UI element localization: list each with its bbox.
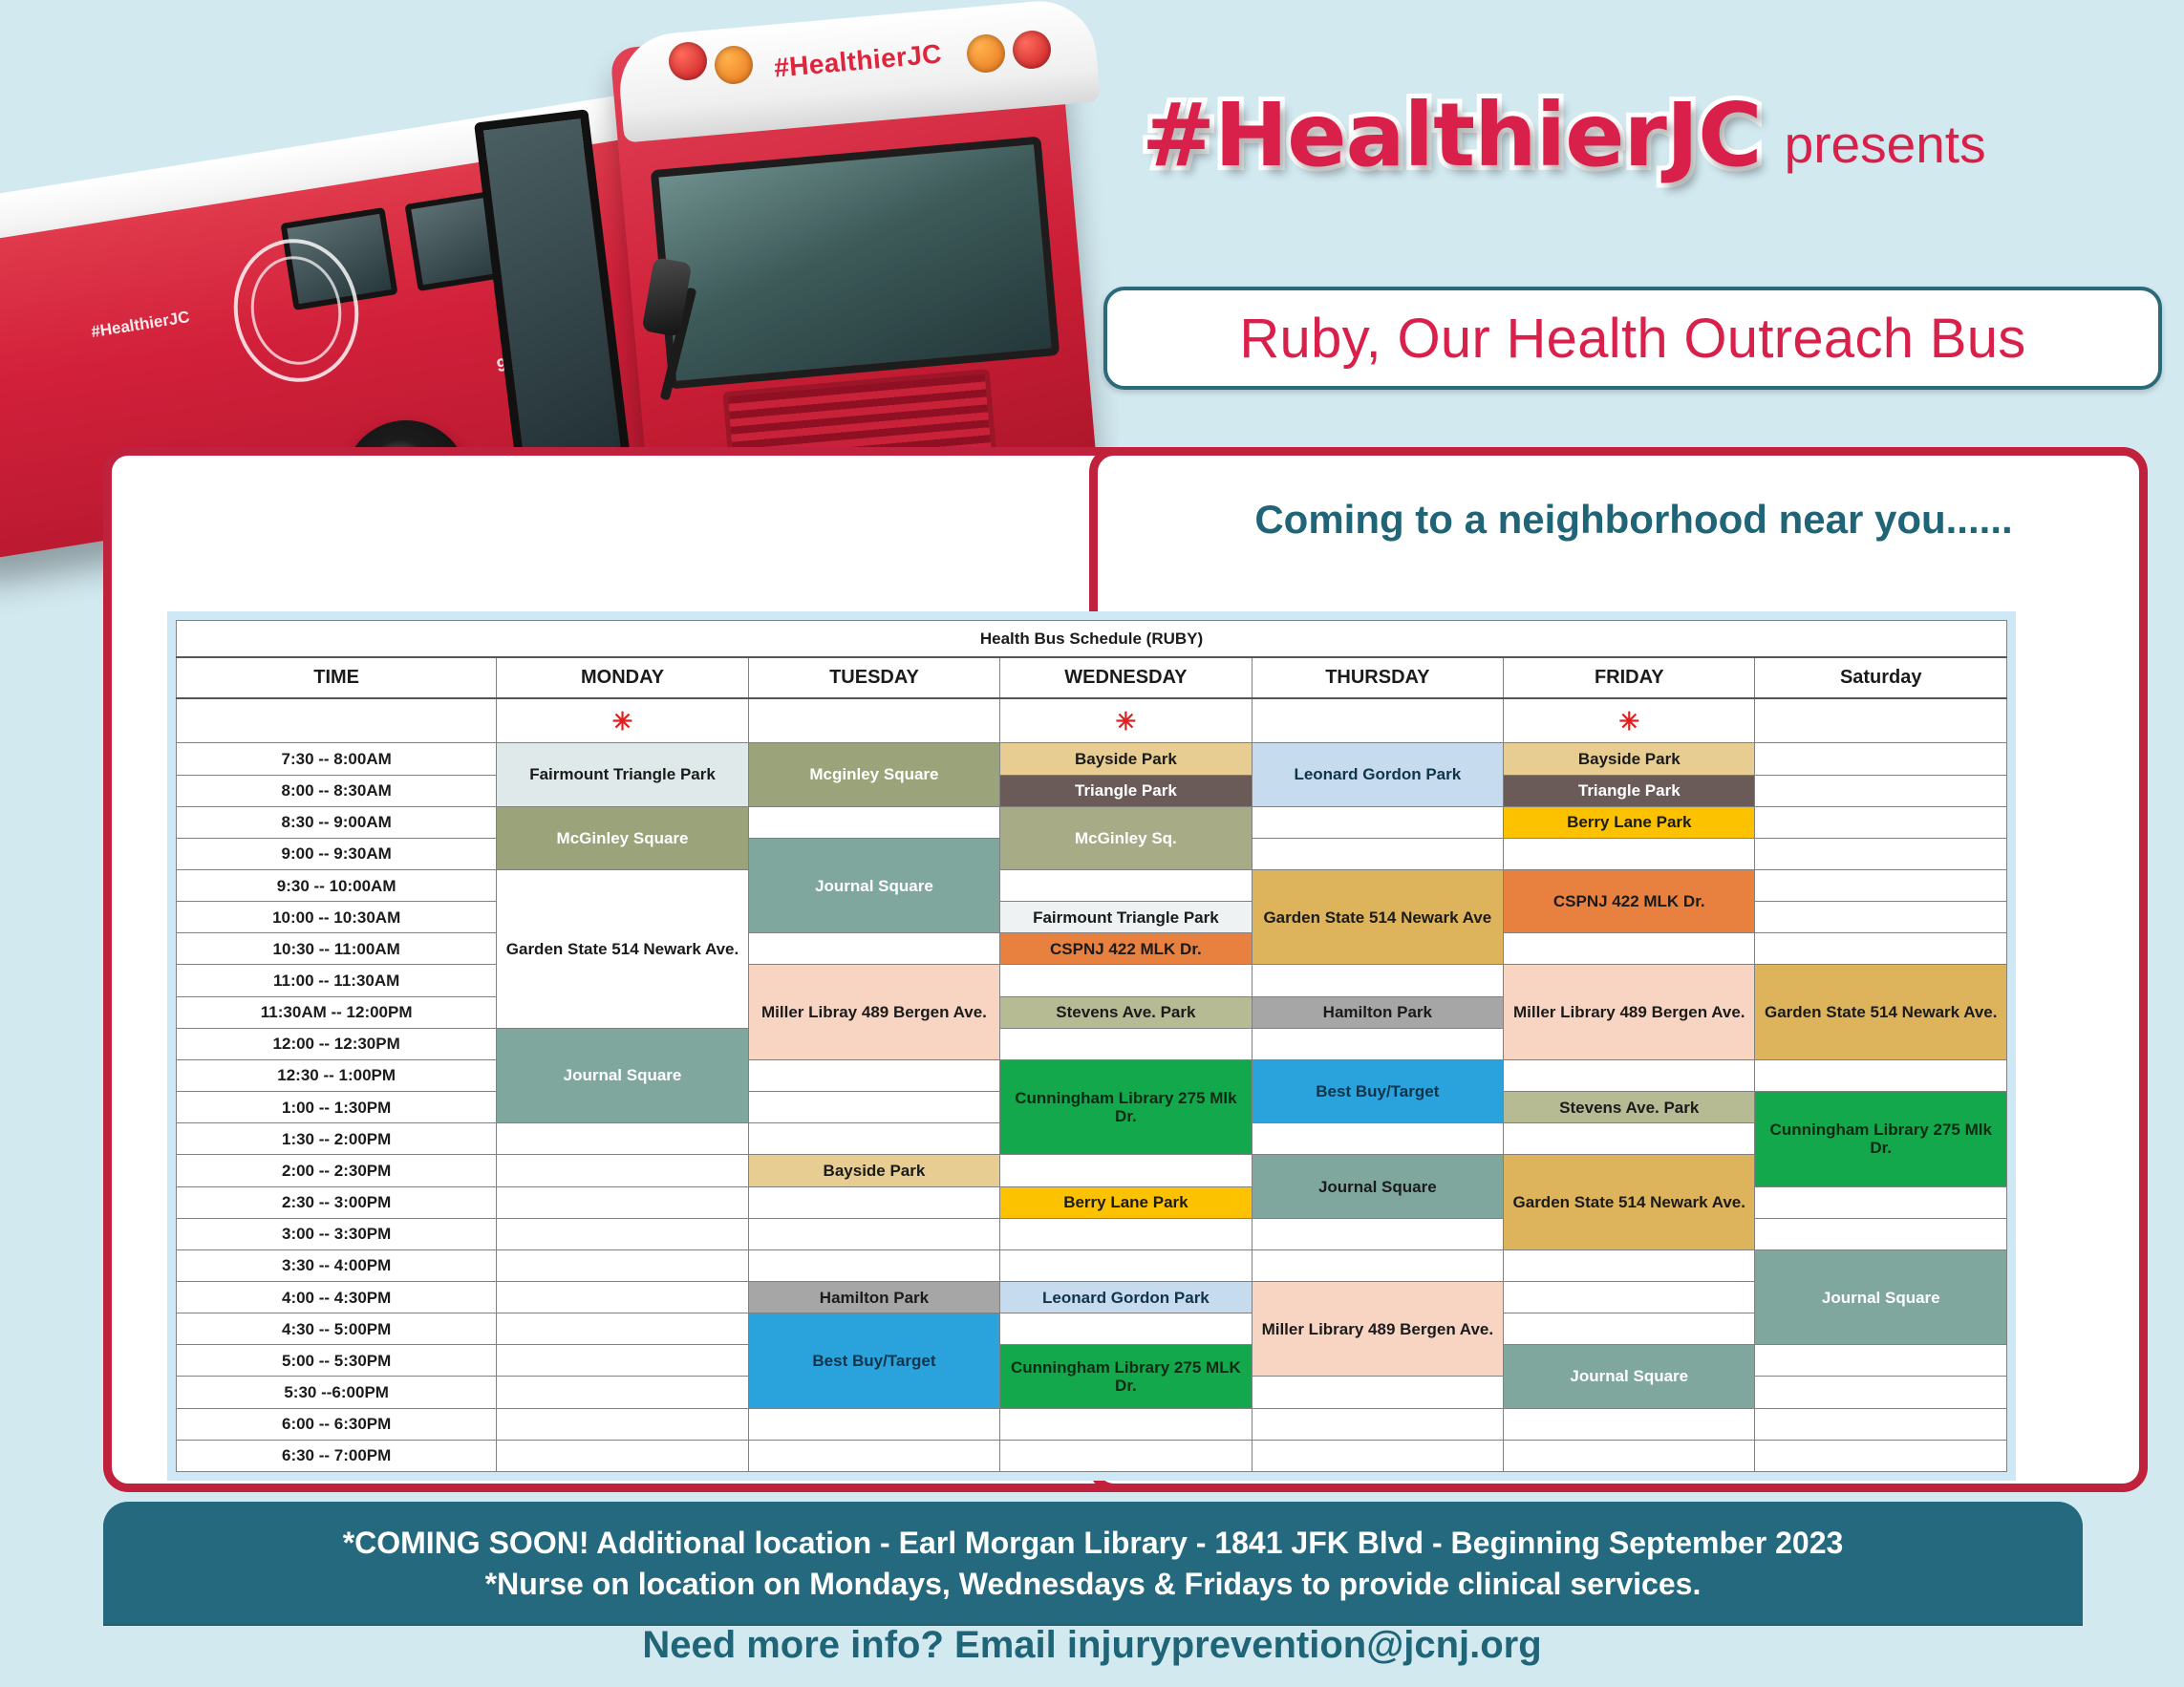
time-slot: 12:30 -- 1:00PM	[177, 1059, 497, 1091]
presents-label: presents	[1785, 114, 1986, 186]
schedule-caption: Health Bus Schedule (RUBY)	[177, 621, 2007, 658]
schedule-cell-empty	[1000, 1155, 1252, 1186]
schedule-cell-tuesday: Journal Square	[748, 838, 999, 932]
brand-header: #HealthierJC presents	[1142, 84, 1986, 186]
schedule-cell-empty	[497, 1440, 748, 1471]
time-slot: 7:30 -- 8:00AM	[177, 743, 497, 775]
time-slot: 9:30 -- 10:00AM	[177, 869, 497, 901]
schedule-cell-empty	[497, 1408, 748, 1440]
schedule-cell-empty	[1504, 1440, 1755, 1471]
time-slot: 1:30 -- 2:00PM	[177, 1123, 497, 1155]
schedule-cell-thursday: Leonard Gordon Park	[1252, 743, 1503, 806]
schedule-cell-saturday: Journal Square	[1755, 1249, 2007, 1344]
schedule-cell-empty	[1504, 1282, 1755, 1313]
page-title: Ruby, Our Health Outreach Bus	[1239, 307, 2025, 371]
time-slot: 1:00 -- 1:30PM	[177, 1092, 497, 1123]
schedule-cell-empty	[748, 1092, 999, 1123]
footer-coming-soon: *COMING SOON! Additional location - Earl…	[343, 1526, 1844, 1561]
schedule-cell-empty	[1000, 1313, 1252, 1345]
column-header-saturday: Saturday	[1755, 657, 2007, 698]
time-slot: 10:00 -- 10:30AM	[177, 902, 497, 933]
time-slot: 6:00 -- 6:30PM	[177, 1408, 497, 1440]
schedule-cell-wednesday: McGinley Sq.	[1000, 806, 1252, 869]
star-row-empty	[177, 698, 497, 743]
time-slot: 2:00 -- 2:30PM	[177, 1155, 497, 1186]
schedule-cell-empty	[1000, 869, 1252, 901]
schedule-cell-wednesday: Berry Lane Park	[1000, 1186, 1252, 1218]
schedule-cell-empty	[748, 1186, 999, 1218]
schedule-cell-empty	[1252, 1123, 1503, 1155]
schedule-cell-thursday: Best Buy/Target	[1252, 1059, 1503, 1122]
schedule-cell-friday: Stevens Ave. Park	[1504, 1092, 1755, 1123]
schedule-cell-empty	[1504, 1313, 1755, 1345]
schedule-cell-empty	[1000, 1218, 1252, 1249]
schedule-cell-tuesday: Mcginley Square	[748, 743, 999, 806]
schedule-cell-empty	[1755, 1218, 2007, 1249]
healthierjc-logo: #HealthierJC	[1142, 84, 1762, 186]
time-slot: 12:00 -- 12:30PM	[177, 1028, 497, 1059]
schedule-cell-empty	[497, 1155, 748, 1186]
column-header-wednesday: WEDNESDAY	[1000, 657, 1252, 698]
column-header-friday: FRIDAY	[1504, 657, 1755, 698]
schedule-cell-empty	[748, 1249, 999, 1281]
tagline: Coming to a neighborhood near you......	[1194, 497, 2073, 543]
schedule-cell-empty	[497, 1345, 748, 1377]
time-slot: 8:00 -- 8:30AM	[177, 775, 497, 806]
schedule-cell-empty	[1755, 869, 2007, 901]
column-header-time: TIME	[177, 657, 497, 698]
time-slot: 10:30 -- 11:00AM	[177, 933, 497, 965]
schedule-cell-thursday: Miller Library 489 Bergen Ave.	[1252, 1282, 1503, 1377]
schedule-cell-monday: Journal Square	[497, 1028, 748, 1122]
title-banner: Ruby, Our Health Outreach Bus	[1103, 287, 2162, 390]
schedule-cell-empty	[497, 1282, 748, 1313]
schedule-cell-empty	[1755, 775, 2007, 806]
footer-notice-band: *COMING SOON! Additional location - Earl…	[103, 1502, 2083, 1626]
schedule-cell-empty	[1000, 1028, 1252, 1059]
schedule-cell-empty	[497, 1218, 748, 1249]
schedule-cell-empty	[1755, 838, 2007, 869]
time-slot: 3:00 -- 3:30PM	[177, 1218, 497, 1249]
schedule-cell-empty	[497, 1313, 748, 1345]
star-row-empty	[1252, 698, 1503, 743]
schedule-cell-empty	[1504, 933, 1755, 965]
time-slot: 5:00 -- 5:30PM	[177, 1345, 497, 1377]
schedule-cell-empty	[1000, 1408, 1252, 1440]
schedule-cell-empty	[1504, 1249, 1755, 1281]
schedule-cell-friday: Journal Square	[1504, 1345, 1755, 1408]
footer-nurse-note: *Nurse on location on Mondays, Wednesday…	[485, 1567, 1702, 1602]
schedule-cell-empty	[1755, 1377, 2007, 1408]
schedule-cell-empty	[1252, 1440, 1503, 1471]
schedule-cell-saturday: Cunningham Library 275 Mlk Dr.	[1755, 1092, 2007, 1186]
column-header-tuesday: TUESDAY	[748, 657, 999, 698]
schedule-cell-wednesday: CSPNJ 422 MLK Dr.	[1000, 933, 1252, 965]
schedule-cell-wednesday: Cunningham Library 275 Mlk Dr.	[1000, 1059, 1252, 1154]
star-row-empty	[748, 698, 999, 743]
health-bus-schedule-table: Health Bus Schedule (RUBY)TIMEMONDAYTUES…	[176, 620, 2007, 1472]
schedule-cell-empty	[748, 933, 999, 965]
schedule-cell-friday: Bayside Park	[1504, 743, 1755, 775]
time-slot: 8:30 -- 9:00AM	[177, 806, 497, 838]
schedule-cell-friday: Berry Lane Park	[1504, 806, 1755, 838]
time-slot: 4:00 -- 4:30PM	[177, 1282, 497, 1313]
schedule-cell-empty	[1252, 806, 1503, 838]
schedule-cell-empty	[748, 806, 999, 838]
schedule-cell-empty	[497, 1249, 748, 1281]
schedule-cell-empty	[1755, 1186, 2007, 1218]
schedule-cell-thursday: Garden State 514 Newark Ave	[1252, 869, 1503, 964]
contact-info: Need more info? Email injuryprevention@j…	[0, 1624, 2184, 1667]
schedule-cell-empty	[1755, 743, 2007, 775]
schedule-cell-monday: Fairmount Triangle Park	[497, 743, 748, 806]
time-slot: 4:30 -- 5:00PM	[177, 1313, 497, 1345]
schedule-panel: Health Bus Schedule (RUBY)TIMEMONDAYTUES…	[167, 611, 2016, 1481]
schedule-cell-monday: Garden State 514 Newark Ave.	[497, 869, 748, 1028]
schedule-cell-wednesday: Triangle Park	[1000, 775, 1252, 806]
schedule-cell-monday: McGinley Square	[497, 806, 748, 869]
schedule-cell-empty	[748, 1408, 999, 1440]
flyer-root: #HealthierJC 9560 #HealthierJC #Healthie…	[0, 0, 2184, 1687]
schedule-cell-empty	[1755, 806, 2007, 838]
star-row-empty	[1755, 698, 2007, 743]
time-slot: 5:30 --6:00PM	[177, 1377, 497, 1408]
schedule-cell-tuesday: Bayside Park	[748, 1155, 999, 1186]
schedule-cell-empty	[1755, 1345, 2007, 1377]
nurse-asterisk-monday: ✳	[497, 698, 748, 743]
schedule-cell-empty	[1504, 1123, 1755, 1155]
schedule-cell-empty	[1000, 1249, 1252, 1281]
time-slot: 9:00 -- 9:30AM	[177, 838, 497, 869]
schedule-cell-empty	[748, 1123, 999, 1155]
schedule-cell-empty	[1000, 1440, 1252, 1471]
schedule-cell-empty	[748, 1218, 999, 1249]
schedule-cell-wednesday: Stevens Ave. Park	[1000, 996, 1252, 1028]
nurse-asterisk-wednesday: ✳	[1000, 698, 1252, 743]
schedule-cell-tuesday: Hamilton Park	[748, 1282, 999, 1313]
schedule-cell-friday: Miller Library 489 Bergen Ave.	[1504, 965, 1755, 1059]
schedule-cell-empty	[1252, 1218, 1503, 1249]
schedule-cell-empty	[1252, 965, 1503, 996]
bus-windshield	[651, 137, 1060, 390]
time-slot: 11:30AM -- 12:00PM	[177, 996, 497, 1028]
schedule-cell-thursday: Journal Square	[1252, 1155, 1503, 1218]
column-header-thursday: THURSDAY	[1252, 657, 1503, 698]
schedule-cell-empty	[1252, 838, 1503, 869]
schedule-cell-empty	[1755, 1408, 2007, 1440]
schedule-cell-empty	[1252, 1408, 1503, 1440]
schedule-cell-empty	[497, 1377, 748, 1408]
schedule-cell-empty	[1000, 965, 1252, 996]
schedule-cell-friday: Garden State 514 Newark Ave.	[1504, 1155, 1755, 1249]
schedule-cell-empty	[1755, 1059, 2007, 1091]
schedule-cell-empty	[1252, 1249, 1503, 1281]
schedule-cell-empty	[1504, 1408, 1755, 1440]
schedule-cell-thursday: Hamilton Park	[1252, 996, 1503, 1028]
schedule-cell-empty	[1755, 902, 2007, 933]
schedule-cell-empty	[1755, 933, 2007, 965]
schedule-cell-empty	[748, 1440, 999, 1471]
time-slot: 3:30 -- 4:00PM	[177, 1249, 497, 1281]
time-slot: 6:30 -- 7:00PM	[177, 1440, 497, 1471]
schedule-cell-wednesday: Fairmount Triangle Park	[1000, 902, 1252, 933]
schedule-cell-empty	[748, 1059, 999, 1091]
schedule-cell-friday: Triangle Park	[1504, 775, 1755, 806]
schedule-cell-empty	[1252, 1028, 1503, 1059]
schedule-cell-wednesday: Leonard Gordon Park	[1000, 1282, 1252, 1313]
schedule-cell-saturday: Garden State 514 Newark Ave.	[1755, 965, 2007, 1059]
schedule-cell-empty	[497, 1123, 748, 1155]
column-header-monday: MONDAY	[497, 657, 748, 698]
schedule-cell-tuesday: Best Buy/Target	[748, 1313, 999, 1408]
schedule-cell-empty	[1755, 1440, 2007, 1471]
schedule-cell-wednesday: Bayside Park	[1000, 743, 1252, 775]
time-slot: 11:00 -- 11:30AM	[177, 965, 497, 996]
schedule-cell-empty	[1504, 838, 1755, 869]
schedule-cell-friday: CSPNJ 422 MLK Dr.	[1504, 869, 1755, 932]
schedule-cell-tuesday: Miller Libray 489 Bergen Ave.	[748, 965, 999, 1059]
schedule-cell-wednesday: Cunningham Library 275 MLK Dr.	[1000, 1345, 1252, 1408]
schedule-cell-empty	[1504, 1059, 1755, 1091]
nurse-asterisk-friday: ✳	[1504, 698, 1755, 743]
schedule-cell-empty	[1252, 1377, 1503, 1408]
time-slot: 2:30 -- 3:00PM	[177, 1186, 497, 1218]
schedule-cell-empty	[497, 1186, 748, 1218]
